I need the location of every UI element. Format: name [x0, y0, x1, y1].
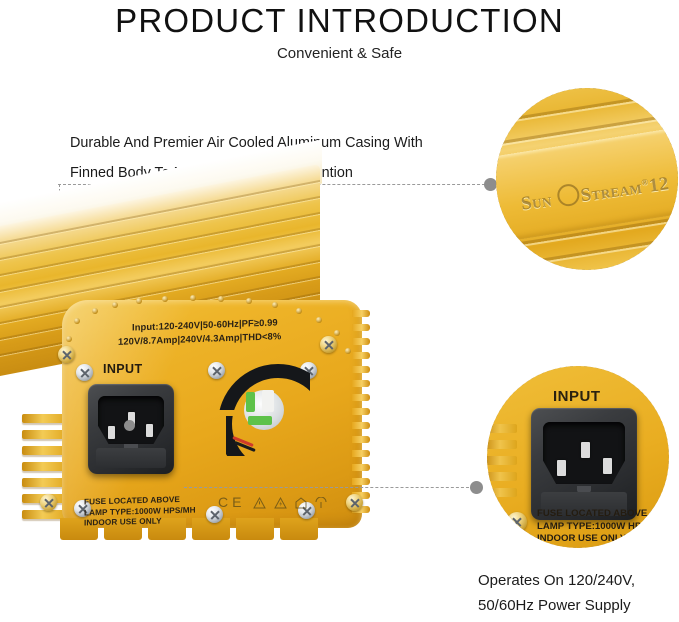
product-warning-text: FUSE LOCATED ABOVE LAMP TYPE:1000W HPS/M…	[84, 495, 196, 529]
feature-power-line1: Operates On 120/240V,	[478, 568, 678, 593]
fan-chip-green-bottom	[248, 416, 272, 425]
page-title: PRODUCT INTRODUCTION	[0, 2, 679, 40]
feature-casing-line1: Durable And Premier Air Cooled Aluminum …	[70, 135, 423, 151]
keep-dry-umbrella-icon	[315, 497, 327, 510]
ballast-right-fin-teeth	[352, 310, 372, 520]
product-photo: Input:120-240V|50-60Hz|PF≥0.99 120V/8.7A…	[0, 218, 400, 548]
fan-chip-white-right	[262, 390, 274, 412]
callout-finned-body-border	[496, 88, 678, 270]
page-subtitle: Convenient & Safe	[0, 45, 679, 62]
leader-line-socket	[184, 487, 474, 488]
callout-input-socket-border	[487, 366, 669, 548]
warning-triangle-icon-1	[253, 497, 266, 509]
leader-dot-socket-callout	[470, 481, 483, 494]
ce-mark: CE	[218, 494, 245, 510]
warning-high-voltage-icon	[274, 497, 287, 509]
feature-power-text: Operates On 120/240V, 50/60Hz Power Supp…	[478, 568, 678, 618]
product-introduction-page: PRODUCT INTRODUCTION Convenient & Safe D…	[0, 0, 679, 622]
product-input-label: INPUT	[103, 362, 143, 376]
callout-finned-body: SUN STREAM®12	[496, 88, 678, 270]
cooling-fan-grille	[218, 364, 310, 456]
iec-inlet-lip	[96, 448, 166, 468]
fan-chip-green-left	[246, 392, 255, 412]
certification-marks: CE	[218, 494, 327, 510]
indoor-use-house-icon	[295, 497, 307, 509]
leader-dot-socket-origin	[124, 420, 135, 431]
callout-input-socket: INPUT FUSE LOCATED ABOVE LAMP TYPE:1000W…	[487, 366, 669, 548]
feature-power-line2: 50/60Hz Power Supply	[478, 593, 678, 618]
